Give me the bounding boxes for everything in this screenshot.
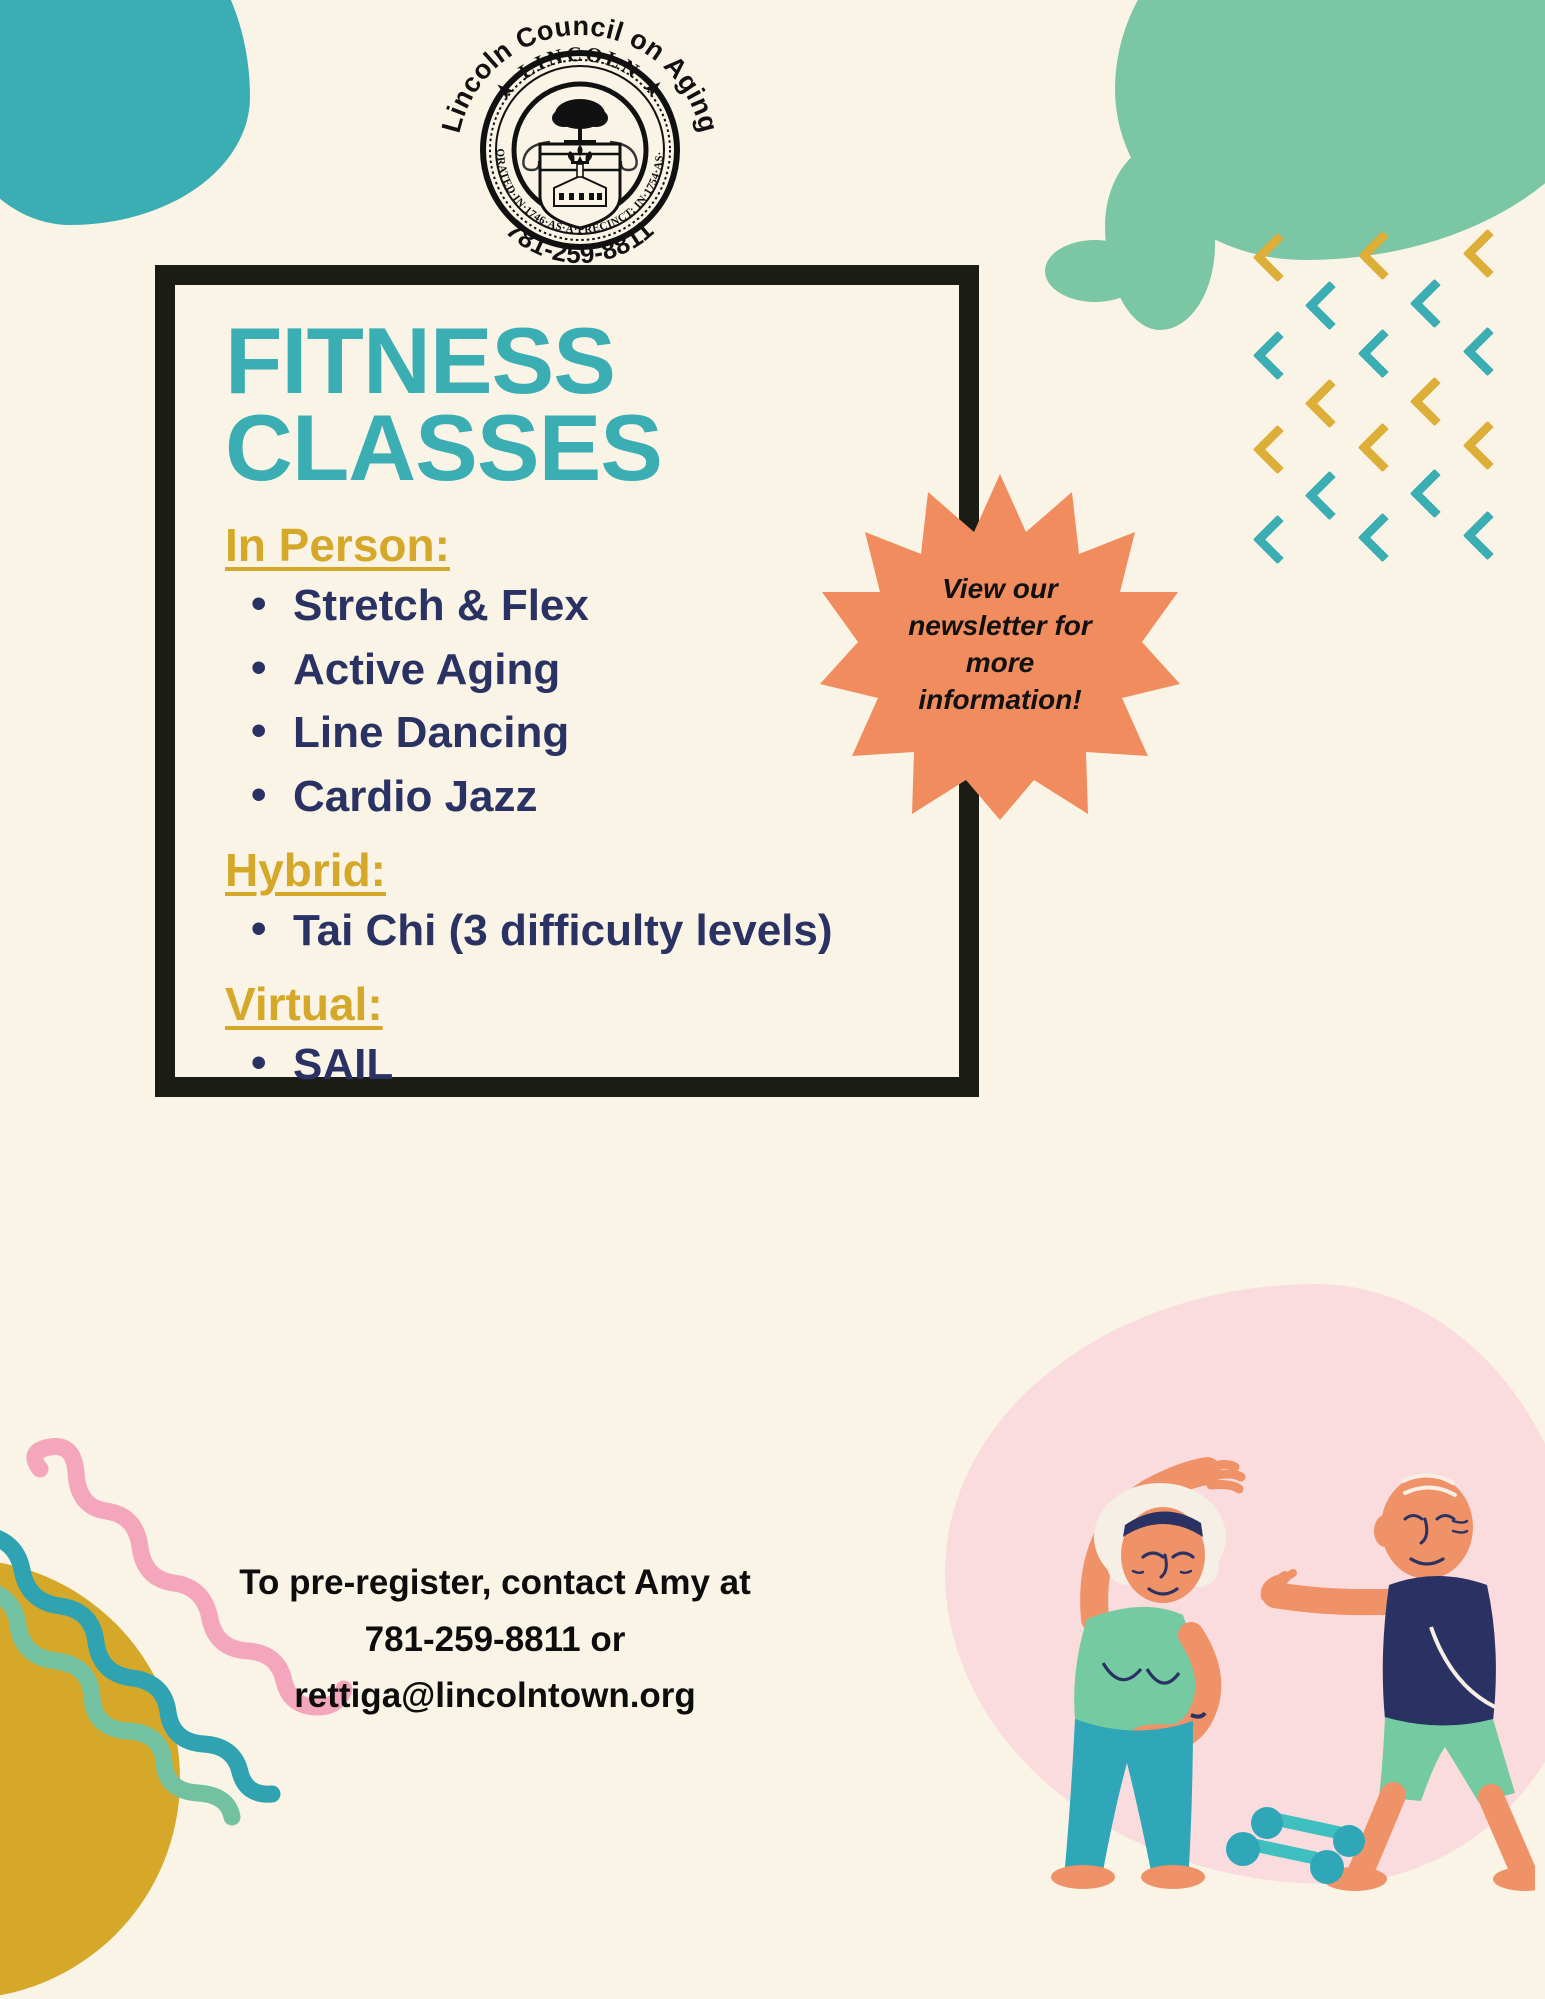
decorative-blob-teal-top-left [0,0,250,225]
fitness-classes-poster: Lincoln Council on Aging 781-259-8811 ★ … [0,0,1545,1999]
seal-tree-icon [552,99,608,144]
newsletter-badge-text: View our newsletter for more information… [888,571,1113,719]
newsletter-badge[interactable]: View our newsletter for more information… [820,470,1180,820]
page-title: FITNESS CLASSES [225,317,935,492]
contact-email[interactable]: rettiga@lincolntown.org [175,1668,815,1725]
two-seniors-stretching-illustration [975,1419,1535,1919]
decorative-gold-semicircle [0,1559,180,1999]
section-heading-virtual: Virtual: [225,977,935,1031]
section-heading-hybrid: Hybrid: [225,843,935,897]
contact-block: To pre-register, contact Amy at 781-259-… [175,1555,815,1725]
decorative-blob-green-small [1045,240,1145,302]
decorative-blob-green-top-right [1115,0,1545,260]
lincoln-council-on-aging-seal: Lincoln Council on Aging 781-259-8811 ★ … [435,8,725,273]
contact-line-1: To pre-register, contact Amy at [175,1555,815,1612]
contact-phone[interactable]: 781-259-8811 or [175,1612,815,1669]
class-list-hybrid: Tai Chi (3 difficulty levels) [205,899,935,963]
page-title-line-1: FITNESS [225,317,935,404]
left-figure-hand [1205,1464,1241,1489]
seal-crest [523,99,636,228]
decorative-blob-green-secondary [1105,140,1215,330]
list-item: Tai Chi (3 difficulty levels) [247,899,935,963]
senior-woman-figure [1051,1464,1241,1889]
list-item: SAIL [247,1033,935,1097]
decorative-blob-pink-top-left [0,0,240,210]
class-list-virtual: SAIL [205,1033,935,1097]
